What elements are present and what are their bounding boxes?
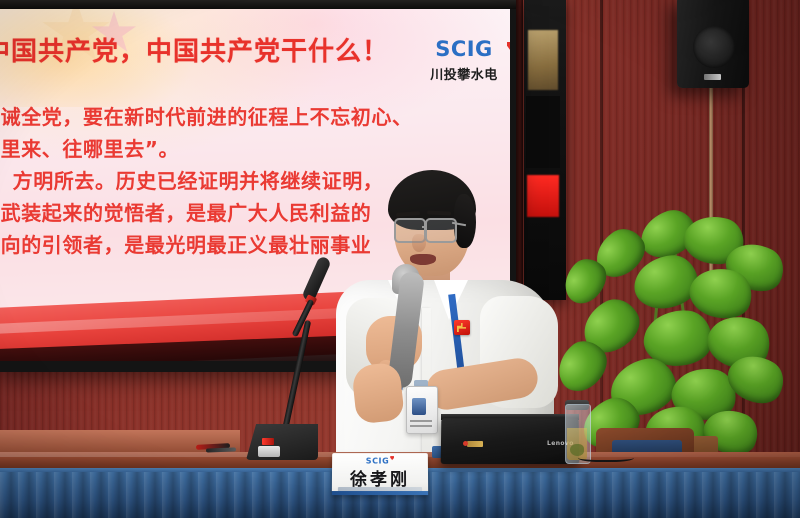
laptop-thinkpad-dot-icon	[463, 441, 468, 446]
scig-logo: SCIG 川投攀水电	[421, 39, 507, 83]
slide-title-row: 中国共产党，中国共产党干什么！ SCIG 川投攀水电	[0, 31, 510, 75]
id-badge-line	[410, 425, 432, 427]
placard-stripe	[332, 491, 428, 495]
hair-side	[454, 194, 476, 248]
id-badge-photo	[412, 398, 426, 415]
photograph-scene: 中国共产党，中国共产党干什么！ SCIG 川投攀水电 告诫全党，要在新时代前进的…	[0, 0, 800, 518]
slide-line: 哪里来、往哪里去”。	[0, 133, 510, 165]
slide-line: 告诫全党，要在新时代前进的征程上不忘初心、	[0, 101, 510, 133]
scig-logo-mark-icon	[507, 42, 510, 52]
loudspeaker-badge	[704, 74, 721, 80]
loudspeaker-cone	[693, 26, 735, 68]
slide-title: 中国共产党，中国共产党干什么！	[0, 31, 389, 68]
panel-gold-graphic	[528, 30, 558, 90]
mic-holding-hand	[351, 362, 405, 425]
table-cable	[578, 452, 634, 462]
eyeglasses-bridge	[422, 226, 427, 228]
plant-leaf	[631, 253, 700, 311]
nose	[412, 234, 426, 252]
panel-dark-graphic	[526, 96, 560, 168]
name-placard: SCIG 徐孝刚	[332, 453, 428, 495]
gooseneck-mic-base	[246, 424, 318, 460]
placard-logo-mark-icon	[390, 456, 394, 460]
gooseneck-mic-led	[262, 438, 274, 445]
scig-logo-wordmark: SCIG	[435, 39, 493, 60]
gooseneck-mic-button	[258, 446, 280, 457]
id-badge-line	[410, 420, 432, 422]
projection-screen-topbar	[0, 0, 516, 9]
mouth	[410, 254, 436, 265]
laptop-thinkpad-label	[467, 441, 483, 447]
scig-logo-chinese-name: 川投攀水电	[421, 64, 507, 83]
wall-loudspeaker	[677, 0, 749, 88]
